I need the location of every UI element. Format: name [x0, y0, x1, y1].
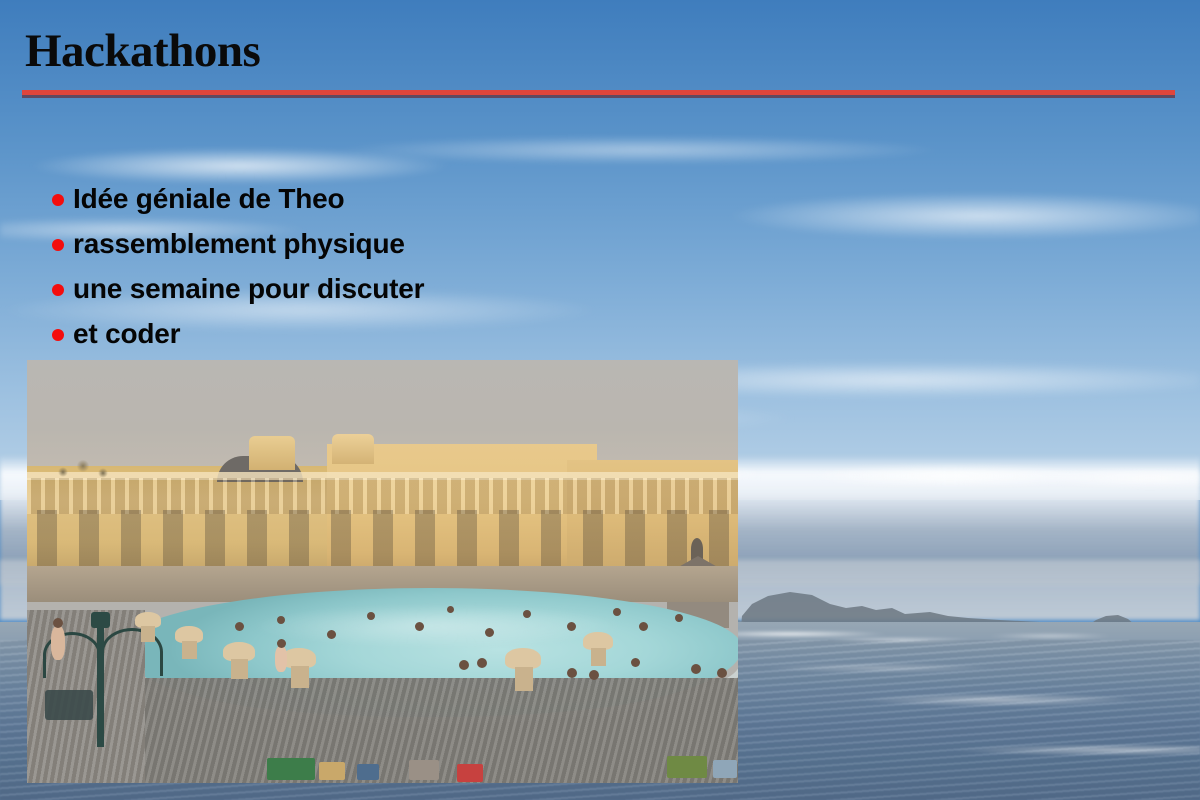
photo-bather-standing [275, 646, 287, 672]
photo-bather [415, 622, 424, 631]
photo-towel [267, 758, 315, 780]
bullet-item: une semaine pour discuter [52, 266, 752, 311]
bullet-dot-icon [52, 284, 64, 296]
photo-arcade-arches [27, 510, 738, 568]
photo-bench [45, 690, 93, 720]
photo-towel [713, 760, 737, 778]
photo-bather [277, 616, 285, 624]
photo-bather-standing [51, 626, 65, 660]
bullet-dot-icon [52, 239, 64, 251]
photo-bather [235, 622, 244, 631]
photo-colonnade [27, 478, 738, 514]
photo-towel [667, 756, 707, 778]
photo-bather [567, 668, 577, 678]
photo-bather [675, 614, 683, 622]
slide-title: Hackathons [25, 28, 260, 75]
photo-urn-base [291, 666, 309, 688]
photo-urn-base [182, 641, 197, 659]
photo-bather [447, 606, 454, 613]
photo-bather [485, 628, 494, 637]
photo-bather [367, 612, 375, 620]
photo-turret-left [249, 436, 295, 470]
photo-urn-base [591, 648, 606, 666]
photo-towel [457, 764, 483, 782]
photo-bather-standing-head [277, 639, 286, 648]
bullet-list: Idée géniale de Theo rassemblement physi… [52, 176, 752, 356]
photo-urn-base [231, 659, 248, 679]
bullet-dot-icon [52, 194, 64, 206]
photo-turret-right [332, 434, 374, 464]
bullet-item: Idée géniale de Theo [52, 176, 752, 221]
slide-root: Hackathons Idée géniale de Theo rassembl… [0, 0, 1200, 800]
photo-bather [567, 622, 576, 631]
bullet-item: rassemblement physique [52, 221, 752, 266]
bullet-label: une semaine pour discuter [73, 275, 424, 303]
photo-urn [505, 648, 541, 669]
bullet-dot-icon [52, 329, 64, 341]
photo-pool-sheen [177, 596, 697, 656]
photo-bather [631, 658, 640, 667]
photo-bather [327, 630, 336, 639]
photo-rooftop-trees [53, 456, 117, 482]
bullet-label: et coder [73, 320, 180, 348]
photo-bather [717, 668, 727, 678]
photo-bather [459, 660, 469, 670]
photo-bather [523, 610, 531, 618]
photo-bather [691, 664, 701, 674]
photo-urn-base [141, 626, 155, 642]
photo-urn [282, 648, 316, 668]
photo-lamp-post [97, 622, 104, 747]
photo-bather [589, 670, 599, 680]
title-underline-rule [22, 90, 1175, 95]
thermal-bath-photo [27, 360, 738, 783]
bullet-label: rassemblement physique [73, 230, 405, 258]
photo-bather [477, 658, 487, 668]
photo-towel [409, 760, 439, 780]
bullet-label: Idée géniale de Theo [73, 185, 344, 213]
photo-towel [357, 764, 379, 780]
photo-urn-base [515, 667, 533, 691]
photo-bather [639, 622, 648, 631]
photo-bather-standing-head [53, 618, 63, 628]
photo-towel [319, 762, 345, 780]
bullet-item: et coder [52, 311, 752, 356]
photo-bather [613, 608, 621, 616]
